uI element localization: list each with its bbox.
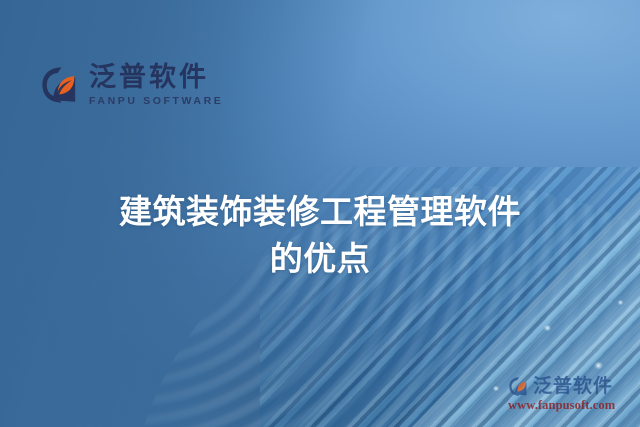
watermark-brand-name: 泛普软件: [533, 377, 613, 396]
brand-logo: 泛普软件 FANPU SOFTWARE: [40, 64, 223, 107]
page-title: 建筑装饰装修工程管理软件 的优点: [0, 188, 640, 282]
watermark-logo-row: 泛普软件: [508, 376, 634, 397]
promo-banner: 泛普软件 FANPU SOFTWARE 建筑装饰装修工程管理软件 的优点 泛普软…: [0, 0, 640, 427]
fanpu-swoosh-icon: [40, 65, 80, 105]
brand-name-cn: 泛普软件: [89, 64, 223, 91]
fanpu-swoosh-icon: [508, 376, 529, 397]
watermark-url: www.fanpusoft.com: [508, 399, 634, 412]
brand-logo-wordmark: 泛普软件 FANPU SOFTWARE: [89, 64, 223, 107]
brand-name-en: FANPU SOFTWARE: [89, 96, 223, 107]
watermark: 泛普软件 www.fanpusoft.com: [508, 376, 634, 412]
